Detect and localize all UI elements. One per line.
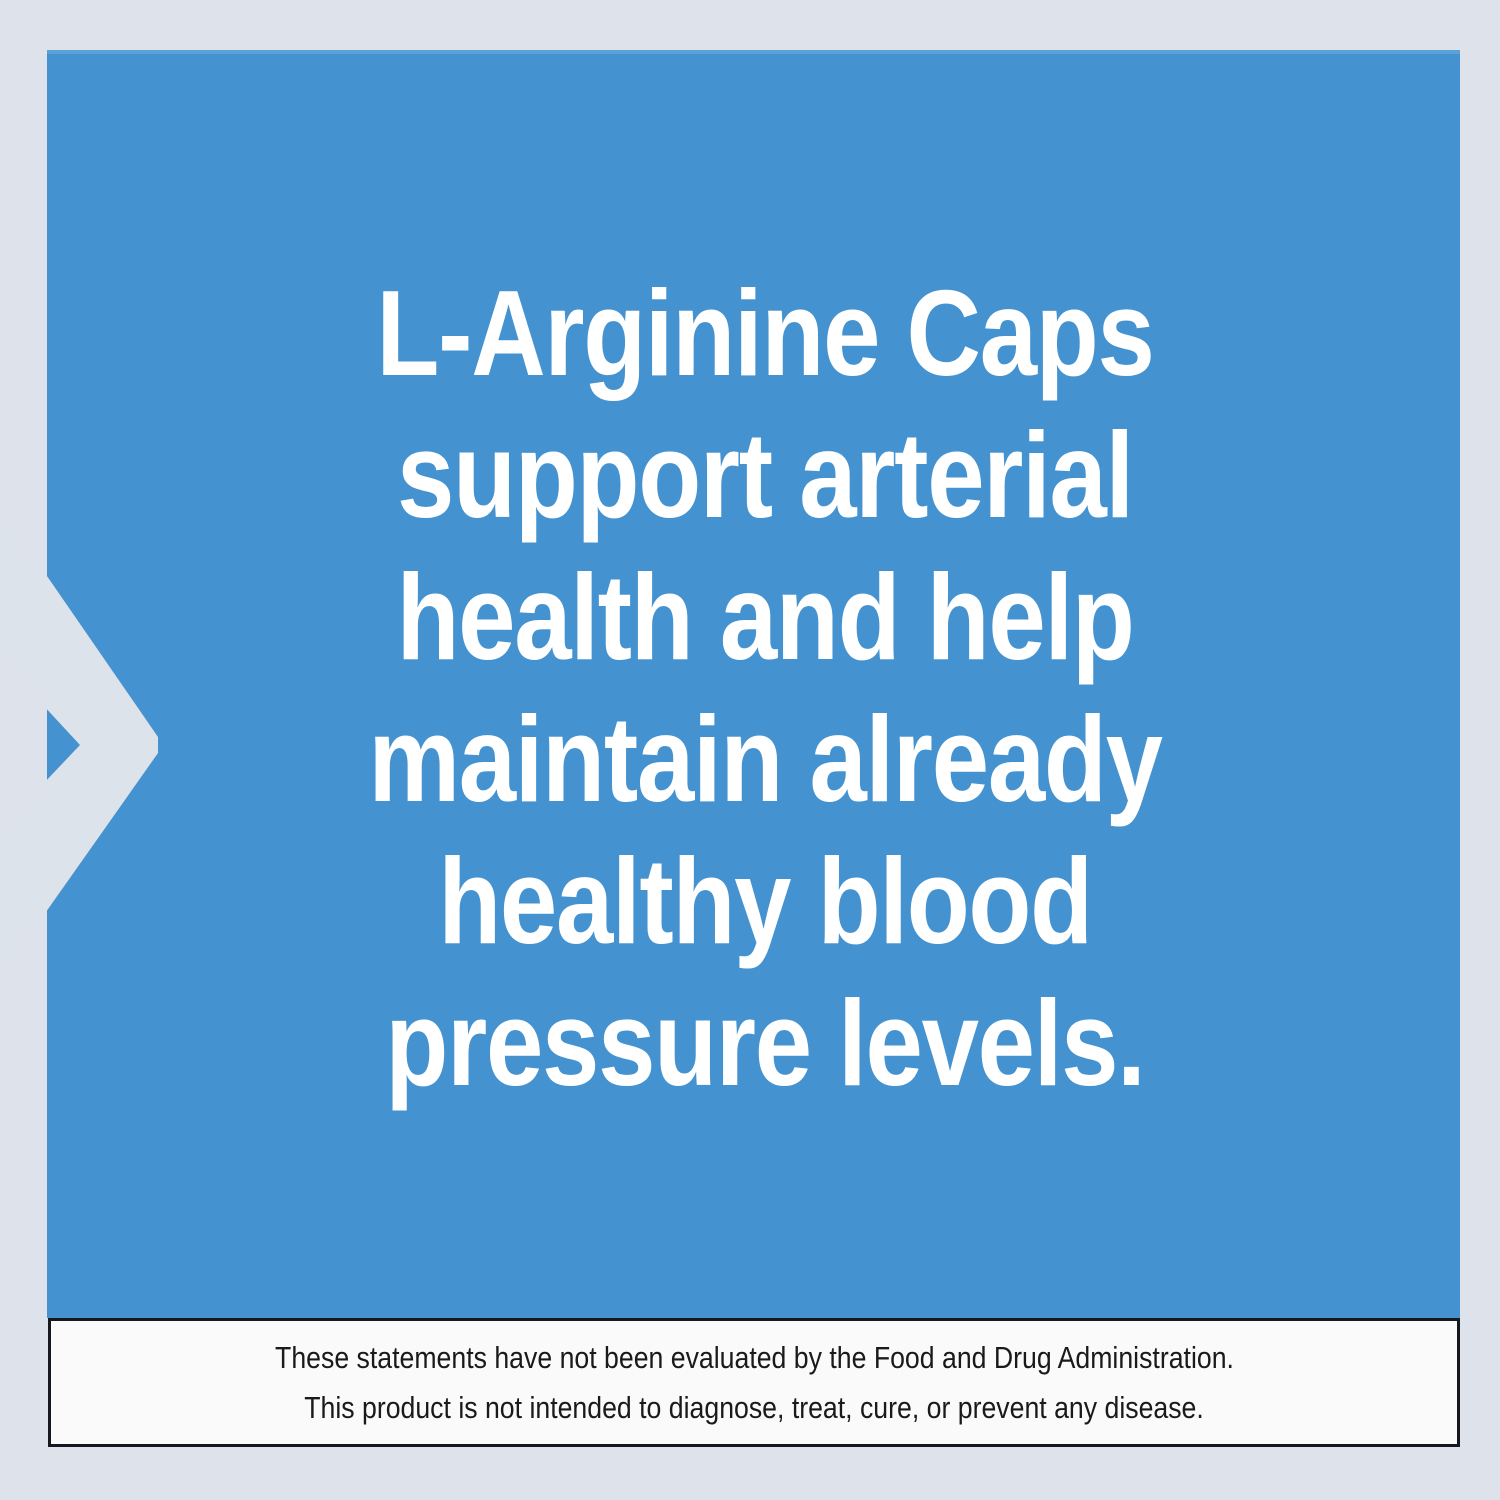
disclaimer-line-2: This product is not intended to diagnose… bbox=[304, 1383, 1204, 1433]
headline-line-2: support arterial bbox=[250, 404, 1281, 546]
disclaimer-line-1: These statements have not been evaluated… bbox=[275, 1333, 1234, 1383]
headline-line-3: health and help bbox=[250, 546, 1281, 688]
headline-line-4: maintain already bbox=[250, 688, 1281, 830]
fda-disclaimer-box: These statements have not been evaluated… bbox=[48, 1318, 1460, 1447]
headline-line-5: healthy blood bbox=[250, 830, 1281, 972]
panel-top-edge-highlight bbox=[47, 50, 1460, 54]
product-claim-image: L-Arginine Caps support arterial health … bbox=[0, 0, 1500, 1500]
page-title: L-Arginine Caps support arterial health … bbox=[155, 262, 1375, 1114]
headline-line-1: L-Arginine Caps bbox=[250, 262, 1281, 404]
headline-line-6: pressure levels. bbox=[250, 972, 1281, 1114]
